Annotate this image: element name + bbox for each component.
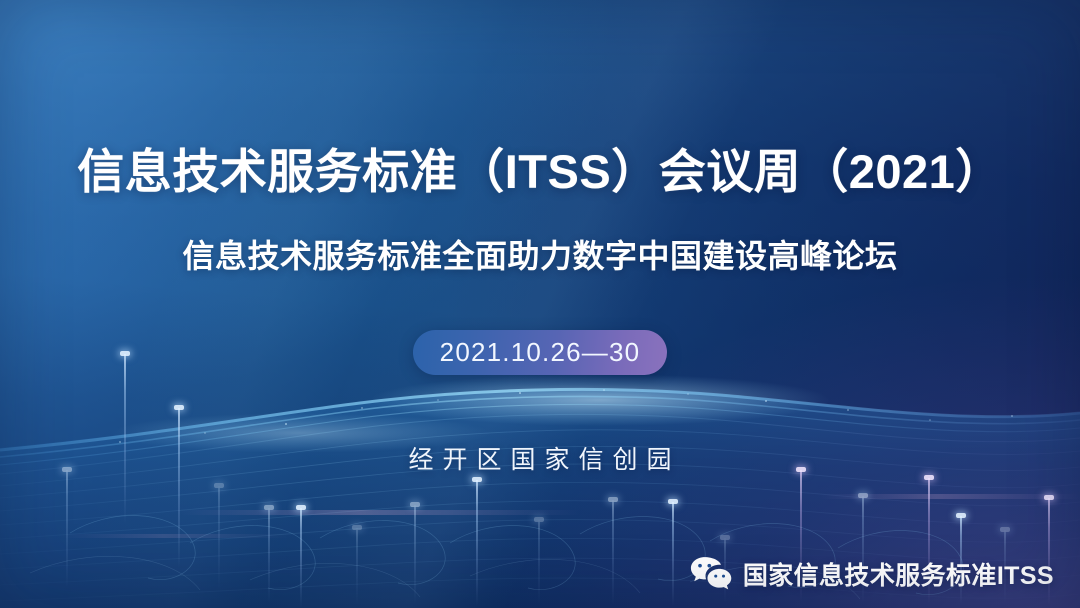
wechat-account: 国家信息技术服务标准ITSS: [690, 556, 1054, 592]
venue-label: 经开区国家信创园: [0, 440, 1080, 476]
status-badge: 2021.10.26—30: [413, 330, 668, 375]
page-title: 信息技术服务标准（ITSS）会议周（2021）: [0, 146, 1080, 199]
wechat-icon-wrapper: [690, 556, 732, 592]
wechat-account-label: 国家信息技术服务标准ITSS: [743, 556, 1054, 592]
wechat-icon: [690, 556, 732, 592]
page-subtitle: 信息技术服务标准全面助力数字中国建设高峰论坛: [0, 231, 1080, 277]
event-banner-poster: 信息技术服务标准（ITSS）会议周（2021） 信息技术服务标准全面助力数字中国…: [0, 0, 1080, 608]
date-badge-container: 2021.10.26—30: [0, 330, 1080, 375]
